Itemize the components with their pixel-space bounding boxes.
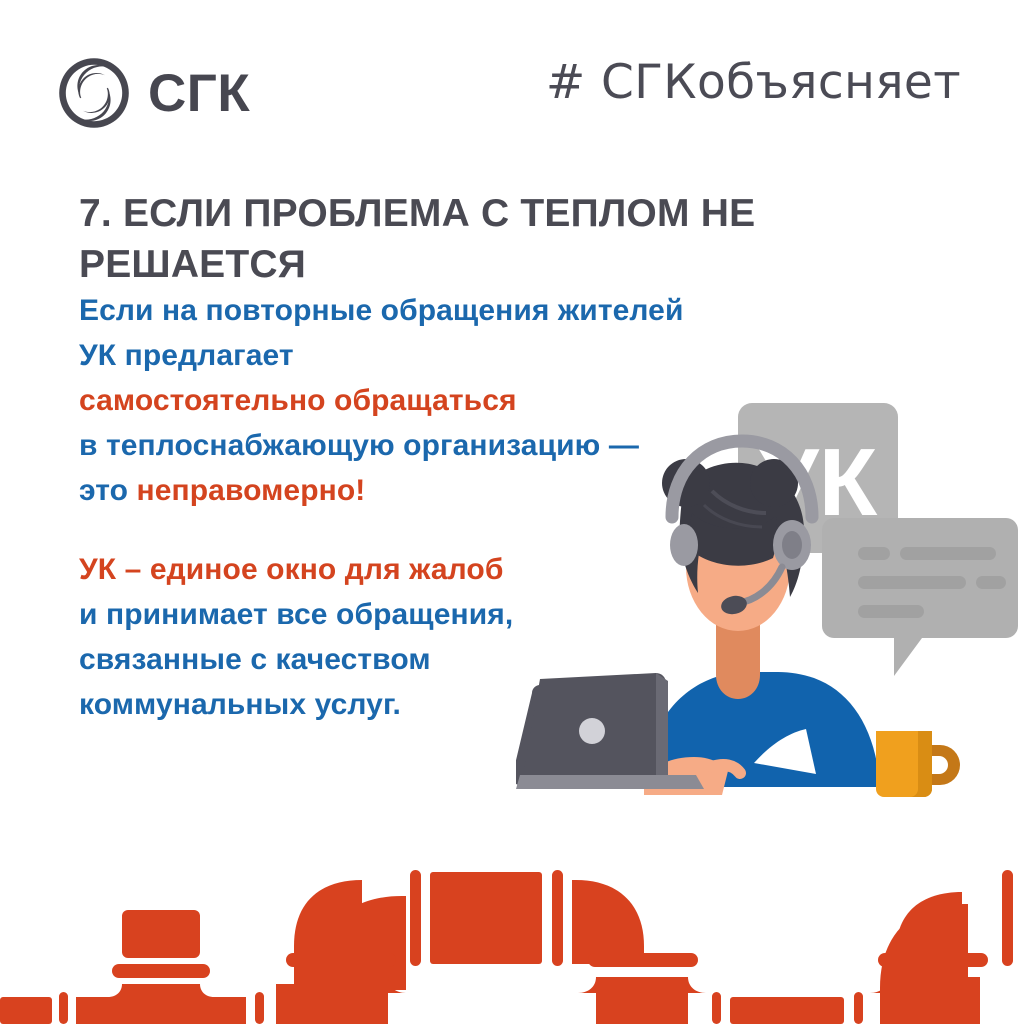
paragraph-1-line-2: УК предлагает <box>79 333 739 378</box>
page-title: 7. ЕСЛИ ПРОБЛЕМА С ТЕПЛОМ НЕ РЕШАЕТСЯ <box>79 189 779 290</box>
campaign-hashtag: # СГКобъясняет <box>546 55 961 110</box>
paragraph-1-line-1: Если на повторные обращения жителей <box>79 288 739 333</box>
call-center-operator-illustration: УК <box>516 395 1024 825</box>
headset-earcup-left <box>670 524 698 566</box>
speech-bubble-lines-icon <box>822 518 1018 676</box>
laptop-logo-icon <box>579 718 605 744</box>
laptop-base <box>516 775 704 789</box>
brand-wordmark: СГК <box>148 67 250 120</box>
brand-logo: СГК <box>56 55 250 131</box>
sgk-swirl-logo-icon <box>56 55 132 131</box>
page-title-line-1: 7. ЕСЛИ ПРОБЛЕМА С ТЕПЛОМ <box>79 192 690 235</box>
mug-handle <box>932 745 960 785</box>
infographic-poster: СГК # СГКобъясняет 7. ЕСЛИ ПРОБЛЕМА С ТЕ… <box>0 0 1024 1024</box>
paragraph-1-line-5-accent: неправомерно! <box>137 474 366 507</box>
coffee-mug-icon <box>876 731 960 797</box>
heating-pipes-graphic <box>0 820 1024 1024</box>
paragraph-1-line-5-prefix: это <box>79 474 137 507</box>
